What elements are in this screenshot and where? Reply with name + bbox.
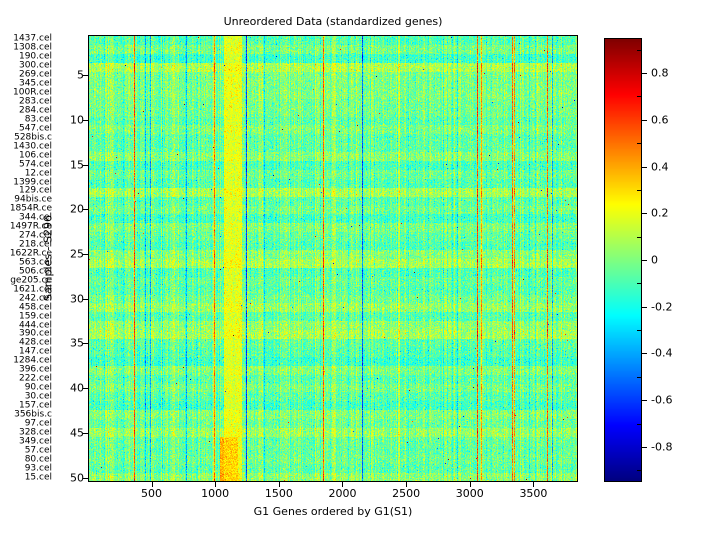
colorbar-minor-tick — [637, 470, 642, 471]
colorbar-minor-tick — [637, 143, 642, 144]
colorbar-tick-mark — [642, 73, 647, 74]
y-tick-label: 20 — [70, 204, 84, 215]
y-tick-label: 30 — [70, 293, 84, 304]
colorbar-tick-label: -0.4 — [651, 348, 672, 359]
x-tick-label: 1500 — [265, 488, 293, 499]
colorbar-tick-label: 0.6 — [651, 114, 669, 125]
colorbar-tick-label: -0.2 — [651, 301, 672, 312]
y-tick-label: 5 — [77, 70, 84, 81]
y-axis-ticks: 5101520253035404550 — [52, 35, 88, 482]
x-tick-label: 2000 — [328, 488, 356, 499]
colorbar-tick-label: 0.4 — [651, 161, 669, 172]
heatmap-axes[interactable] — [88, 35, 578, 482]
colorbar-tick-label: 0.2 — [651, 208, 669, 219]
x-tick-label: 3000 — [456, 488, 484, 499]
colorbar-gradient — [605, 39, 641, 481]
colorbar-tick-label: -0.6 — [651, 395, 672, 406]
x-tick-label: 1000 — [201, 488, 229, 499]
colorbar-tick-mark — [642, 260, 647, 261]
y-axis-label: Samples - S296 — [42, 215, 55, 301]
colorbar-tick-label: 0.8 — [651, 68, 669, 79]
y-tick-label: 10 — [70, 114, 84, 125]
colorbar-minor-tick — [637, 96, 642, 97]
colorbar-tick-mark — [642, 447, 647, 448]
y-tick-label: 45 — [70, 427, 84, 438]
y-tick-label: 40 — [70, 383, 84, 394]
x-tick-label: 500 — [141, 488, 162, 499]
x-axis-ticks: 500100015002000250030003500 — [88, 482, 578, 502]
x-axis-label: G1 Genes ordered by G1(S1) — [88, 505, 578, 518]
colorbar-tick-mark — [642, 167, 647, 168]
y-tick-label: 25 — [70, 249, 84, 260]
colorbar-minor-tick — [637, 377, 642, 378]
colorbar-tick-label: -0.8 — [651, 441, 672, 452]
colorbar-ticks: -0.8-0.6-0.4-0.200.20.40.60.8 — [642, 38, 712, 482]
colorbar-tick-mark — [642, 400, 647, 401]
colorbar-tick-mark — [642, 353, 647, 354]
x-tick-label: 2500 — [392, 488, 420, 499]
colorbar-tick-mark — [642, 213, 647, 214]
chart-title: Unreordered Data (standardized genes) — [88, 15, 578, 28]
colorbar-tick-mark — [642, 307, 647, 308]
y-tick-label: 50 — [70, 472, 84, 483]
colorbar-minor-tick — [637, 330, 642, 331]
heatmap-image[interactable] — [89, 36, 577, 481]
x-tick-label: 3500 — [519, 488, 547, 499]
sample-label: 15.cel — [25, 473, 52, 482]
y-tick-label: 15 — [70, 159, 84, 170]
y-tick-label: 35 — [70, 338, 84, 349]
colorbar-tick-mark — [642, 120, 647, 121]
colorbar-minor-tick — [637, 283, 642, 284]
colorbar-tick-label: 0 — [651, 255, 658, 266]
colorbar-minor-tick — [637, 424, 642, 425]
colorbar-minor-tick — [637, 237, 642, 238]
colorbar-minor-tick — [637, 50, 642, 51]
matlab-figure-window: Unreordered Data (standardized genes) 14… — [0, 0, 720, 540]
colorbar[interactable] — [604, 38, 642, 482]
colorbar-minor-tick — [637, 190, 642, 191]
